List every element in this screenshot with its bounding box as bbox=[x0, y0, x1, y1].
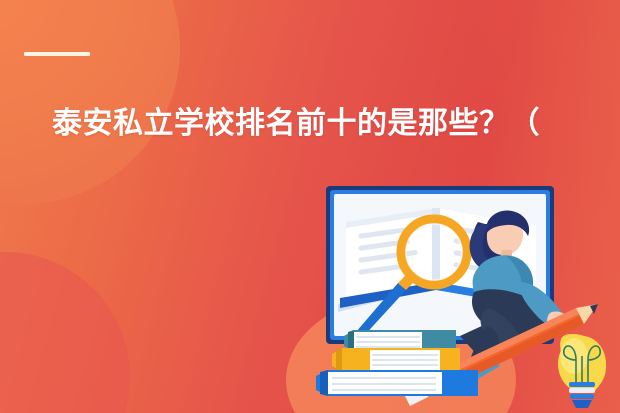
decorative-rule bbox=[24, 52, 90, 56]
page-title: 泰安私立学校排名前十的是那些？（ bbox=[52, 104, 620, 144]
lightbulb-icon bbox=[558, 334, 606, 408]
student-research-illustration bbox=[310, 186, 620, 413]
banner-image: 泰安私立学校排名前十的是那些？（ bbox=[0, 0, 620, 413]
